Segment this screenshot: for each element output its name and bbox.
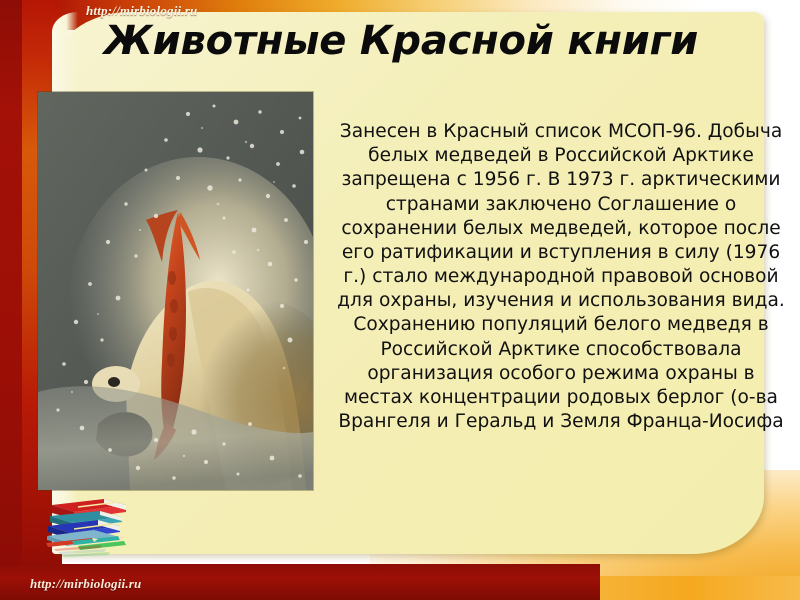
- watermark-top: http://mirbiologii.ru: [86, 3, 197, 19]
- slide-title: Животные Красной книги: [86, 19, 716, 64]
- watermark-bottom: http://mirbiologii.ru: [30, 576, 141, 592]
- presentation-slide: http://mirbiologii.ru http://mirbiologii…: [0, 0, 800, 600]
- books-clipart: [34, 487, 156, 559]
- slide-body-text: Занесен в Красный список МСОП-96. Добыча…: [330, 120, 792, 434]
- left-frame-border: [0, 0, 22, 600]
- polar-bear-photo: [38, 92, 313, 490]
